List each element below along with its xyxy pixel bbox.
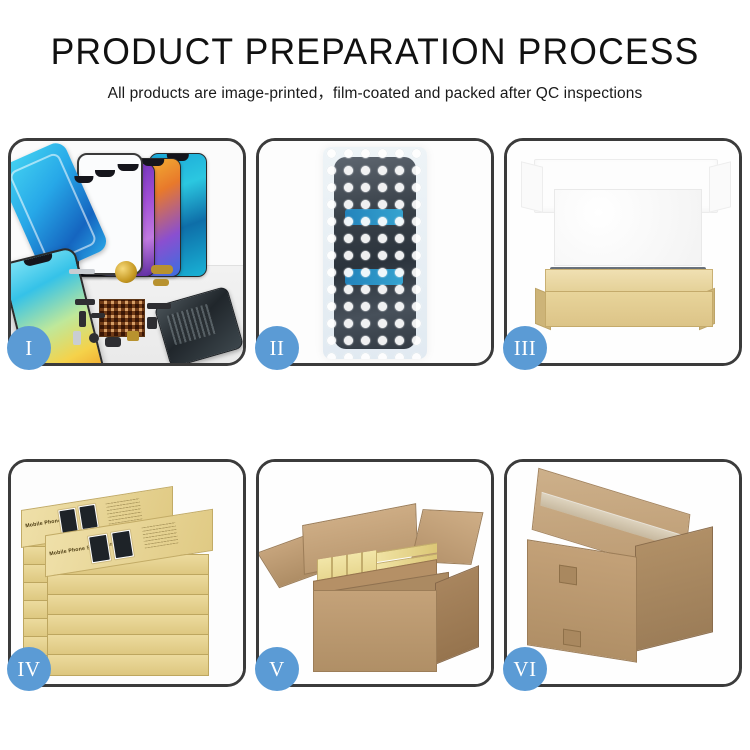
screw-strip-icon bbox=[91, 313, 105, 318]
step-image-3 bbox=[507, 141, 739, 363]
step-badge-2: II bbox=[255, 326, 299, 370]
step-image-6 bbox=[507, 462, 739, 684]
box-thumb-front-2 bbox=[110, 529, 135, 561]
box-thumb-front-1 bbox=[87, 533, 112, 565]
process-steps-grid: I II bbox=[8, 138, 742, 687]
stacked-box bbox=[47, 574, 209, 596]
step-panel-5: V bbox=[256, 459, 494, 687]
tape-tab-lower bbox=[563, 629, 581, 648]
sealed-carton-front bbox=[527, 539, 637, 662]
step-panel-2: II bbox=[256, 138, 494, 366]
product-preparation-page: PRODUCT PREPARATION PROCESS All products… bbox=[0, 0, 750, 750]
carton-front bbox=[313, 590, 437, 672]
step-panel-3: III bbox=[504, 138, 742, 366]
step-badge-4: IV bbox=[7, 647, 51, 691]
part-strip-icon bbox=[69, 269, 95, 274]
step-badge-1: I bbox=[7, 326, 51, 370]
page-subtitle: All products are image-printed，film-coat… bbox=[0, 83, 750, 105]
tape-tab-upper bbox=[559, 565, 577, 586]
box-tray-front bbox=[545, 291, 713, 327]
step-badge-5: V bbox=[255, 647, 299, 691]
step-image-2 bbox=[259, 141, 491, 363]
box-stack: Mobile Phone Spare Parts Mobile Phone Sp… bbox=[11, 462, 243, 684]
camera-ring-icon bbox=[89, 333, 99, 343]
step-panel-4: Mobile Phone Spare Parts Mobile Phone Sp… bbox=[8, 459, 246, 687]
stacked-box bbox=[47, 594, 209, 616]
stacked-box bbox=[47, 654, 209, 676]
page-header: PRODUCT PREPARATION PROCESS All products… bbox=[0, 0, 750, 105]
step-panel-6: VI bbox=[504, 459, 742, 687]
button-icon bbox=[147, 317, 157, 329]
step-image-5 bbox=[259, 462, 491, 684]
step-badge-6: VI bbox=[503, 647, 547, 691]
vibrator-icon bbox=[105, 337, 121, 347]
page-title: PRODUCT PREPARATION PROCESS bbox=[15, 30, 735, 74]
sim-tray-icon bbox=[73, 331, 81, 345]
sealed-carton-side bbox=[635, 526, 713, 651]
stacked-box bbox=[47, 614, 209, 636]
bubble-wrap-icon bbox=[323, 145, 427, 359]
step-image-1 bbox=[11, 141, 243, 363]
foam-padding-icon bbox=[554, 189, 702, 266]
step-image-4: Mobile Phone Spare Parts Mobile Phone Sp… bbox=[11, 462, 243, 684]
flex-cable-icon bbox=[151, 265, 173, 274]
bracket-icon bbox=[79, 311, 86, 327]
antenna-cable-icon bbox=[147, 303, 171, 309]
connector-icon bbox=[75, 299, 95, 305]
step-badge-3: III bbox=[503, 326, 547, 370]
battery-connector-icon bbox=[127, 331, 139, 341]
spare-parts-group bbox=[67, 259, 233, 359]
step-panel-1: I bbox=[8, 138, 246, 366]
flex-cable-small-icon bbox=[153, 279, 169, 286]
stacked-box bbox=[47, 634, 209, 656]
speaker-coil-icon bbox=[115, 261, 137, 283]
